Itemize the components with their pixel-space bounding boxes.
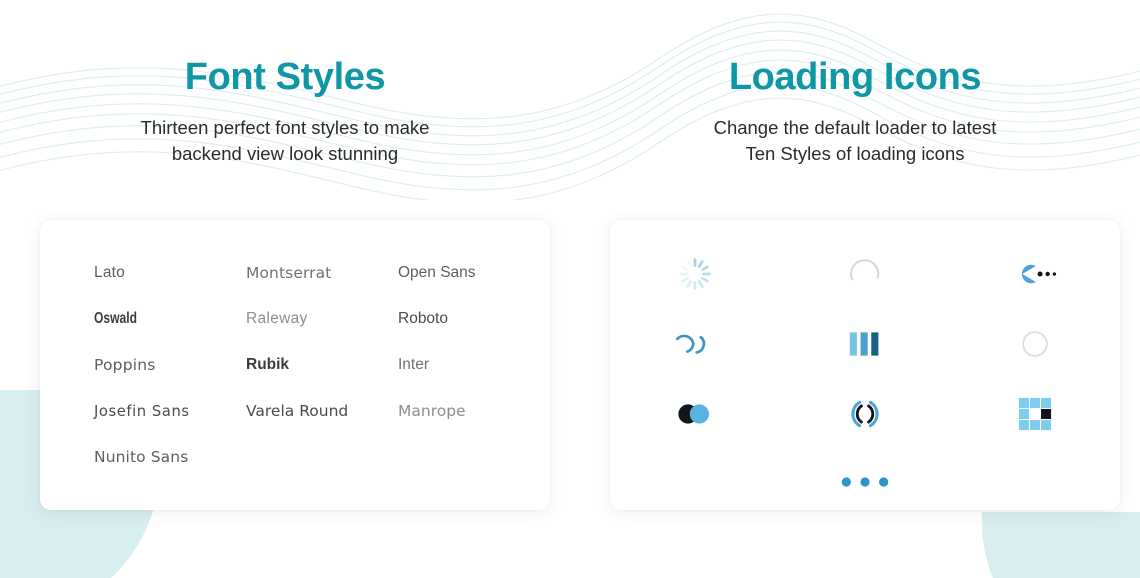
font-item-varela-round[interactable]: Varela Round — [246, 398, 398, 424]
spinner-pacman-dots-icon[interactable] — [1004, 248, 1066, 300]
loading-icons-card — [610, 220, 1120, 510]
font-item-inter[interactable]: Inter — [398, 352, 550, 378]
loading-icons-grid — [610, 220, 1120, 440]
font-item-open-sans[interactable]: Open Sans — [398, 260, 550, 286]
loading-icons-last-row — [610, 456, 1120, 508]
panel-font-styles: Font Styles Thirteen perfect font styles… — [0, 0, 570, 578]
font-item-lato[interactable]: Lato — [94, 260, 246, 286]
spinner-facing-brackets-icon[interactable] — [834, 388, 896, 440]
spinner-three-dots-icon[interactable] — [834, 456, 896, 508]
font-styles-card: Lato Montserrat Open Sans Oswald Raleway… — [40, 220, 550, 510]
page-title-loading-icons: Loading Icons — [729, 58, 981, 98]
spinner-plain-ring-icon[interactable] — [1004, 318, 1066, 370]
spinner-three-bars-icon[interactable] — [834, 318, 896, 370]
spinner-radial-dashes-icon[interactable] — [664, 248, 726, 300]
font-item-oswald[interactable]: Oswald — [94, 306, 213, 332]
panel-loading-icons: Loading Icons Change the default loader … — [570, 0, 1140, 578]
font-item-raleway[interactable]: Raleway — [246, 306, 398, 332]
spinner-arc-ring-icon[interactable] — [834, 248, 896, 300]
font-item-nunito-sans[interactable]: Nunito Sans — [94, 444, 246, 470]
panel-subtitle-font-styles: Thirteen perfect font styles to make bac… — [141, 115, 430, 168]
spinner-double-crescent-icon[interactable] — [664, 318, 726, 370]
font-item-montserrat[interactable]: Montserrat — [246, 260, 398, 286]
subtitle-line-1: Thirteen perfect font styles to make — [141, 115, 430, 141]
font-styles-grid: Lato Montserrat Open Sans Oswald Raleway… — [40, 220, 550, 470]
subtitle-line-2: backend view look stunning — [141, 141, 430, 167]
font-item-rubik[interactable]: Rubik — [246, 352, 398, 378]
spinner-two-circles-icon[interactable] — [664, 388, 726, 440]
panel-subtitle-loading-icons: Change the default loader to latest Ten … — [714, 115, 997, 168]
page-title-font-styles: Font Styles — [185, 58, 385, 98]
font-item-josefin-sans[interactable]: Josefin Sans — [94, 398, 238, 424]
font-item-manrope[interactable]: Manrope — [398, 398, 550, 424]
spinner-square-grid-icon[interactable] — [1004, 388, 1066, 440]
font-item-roboto[interactable]: Roboto — [398, 306, 550, 332]
page-root: Font Styles Thirteen perfect font styles… — [0, 0, 1140, 578]
font-item-poppins[interactable]: Poppins — [94, 352, 246, 378]
subtitle-line-2: Ten Styles of loading icons — [714, 141, 997, 167]
subtitle-line-1: Change the default loader to latest — [714, 115, 997, 141]
